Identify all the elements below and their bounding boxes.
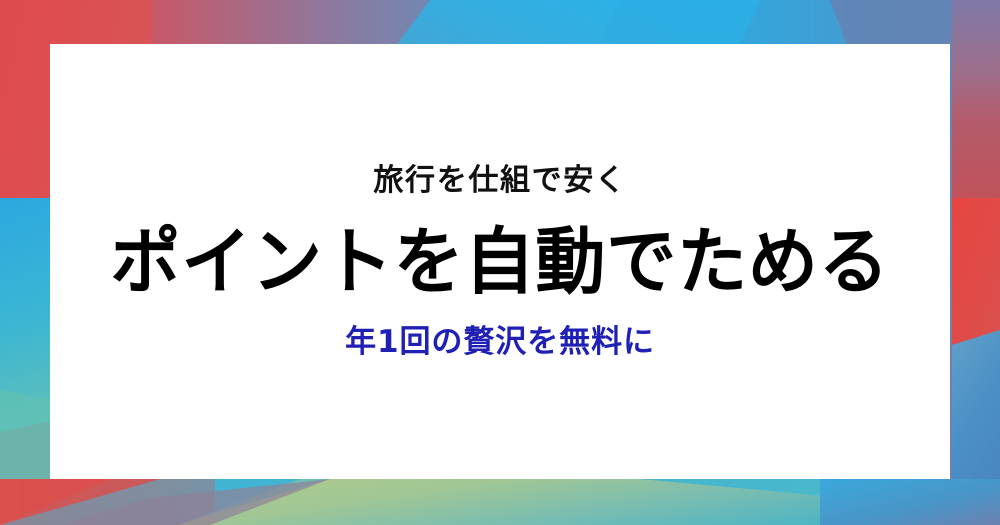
bg-right-red-band [952,198,1000,345]
headline-text: ポイントを自動でためる [110,224,889,303]
eyebrow-text: 旅行を仕組で安く [373,162,626,200]
bg-bottom-right-blue-facet [820,479,1000,525]
bg-right-purple-top [952,0,1000,198]
content-card: 旅行を仕組で安く ポイントを自動でためる 年1回の贅沢を無料に [50,44,950,479]
promo-banner: 旅行を仕組で安く ポイントを自動でためる 年1回の贅沢を無料に [0,0,1000,525]
tagline-text: 年1回の贅沢を無料に [345,323,655,362]
text-stack: 旅行を仕組で安く ポイントを自動でためる 年1回の贅沢を無料に [50,162,950,362]
